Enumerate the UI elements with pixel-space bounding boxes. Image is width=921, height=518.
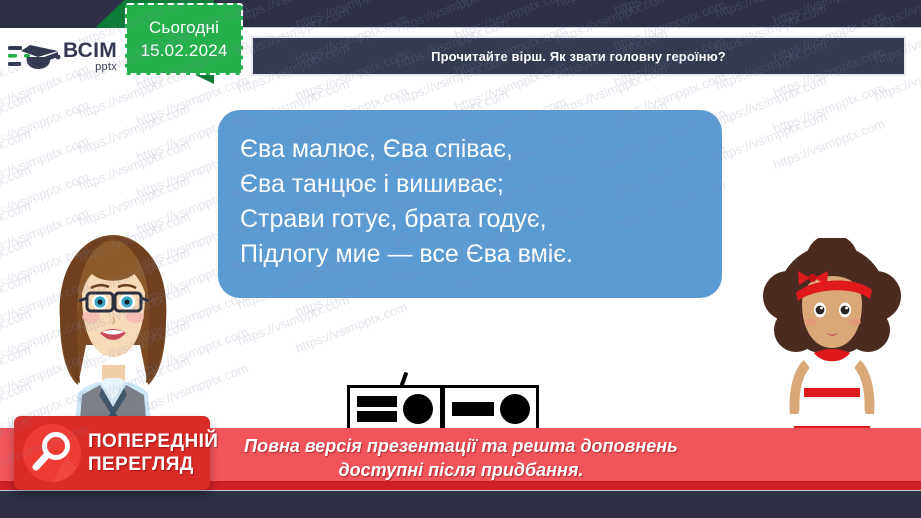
graduation-cap-icon	[8, 39, 62, 75]
slide-preview-stage: Єва малює, Єва співає, Єва танцює і виши…	[0, 0, 921, 518]
purchase-banner-line-1: Повна версія презентації та решта доповн…	[221, 434, 701, 458]
brand-suffix: pptx	[63, 62, 117, 73]
scheme-cell-2	[443, 385, 539, 433]
stress-mark-icon	[400, 372, 409, 387]
today-date-badge: Сьогодні 15.02.2024	[125, 3, 243, 75]
poem-textbox: Єва малює, Єва співає, Єва танцює і виши…	[218, 110, 722, 298]
brand-name: ВСІМ	[63, 40, 117, 61]
poem-line: Страви готує, брата годує,	[240, 202, 722, 237]
poem-line: Підлогу мие — все Єва вміє.	[240, 237, 722, 272]
poem-line: Єва малює, Єва співає,	[240, 132, 722, 167]
soft-consonant-double-bar-icon	[357, 396, 397, 422]
today-date: 15.02.2024	[140, 41, 227, 61]
preview-label-line-2: ПЕРЕГЛЯД	[88, 455, 218, 474]
hard-consonant-single-bar-icon	[452, 402, 494, 416]
task-instruction-bar: Прочитайте вірш. Як звати головну героїн…	[251, 36, 906, 76]
purchase-banner-text: Повна версія презентації та решта доповн…	[221, 434, 701, 482]
today-label: Сьогодні	[149, 18, 219, 38]
purchase-banner-line-2: доступні після придбання.	[221, 458, 701, 482]
preview-badge-labels: ПОПЕРЕДНІЙ ПЕРЕГЛЯД	[88, 432, 218, 474]
task-instruction-text: Прочитайте вірш. Як звати головну героїн…	[431, 49, 726, 64]
scheme-cell-1	[347, 385, 443, 433]
syllable-sound-scheme	[347, 385, 539, 433]
vowel-circle-icon	[403, 394, 433, 424]
preview-label-line-1: ПОПЕРЕДНІЙ	[88, 432, 218, 451]
vowel-circle-icon	[500, 394, 530, 424]
poem-line: Єва танцює і вишиває;	[240, 167, 722, 202]
preview-badge[interactable]: ПОПЕРЕДНІЙ ПЕРЕГЛЯД	[14, 416, 210, 490]
brand-logo-text: ВСІМ pptx	[63, 40, 117, 73]
magnifier-icon	[23, 424, 81, 482]
